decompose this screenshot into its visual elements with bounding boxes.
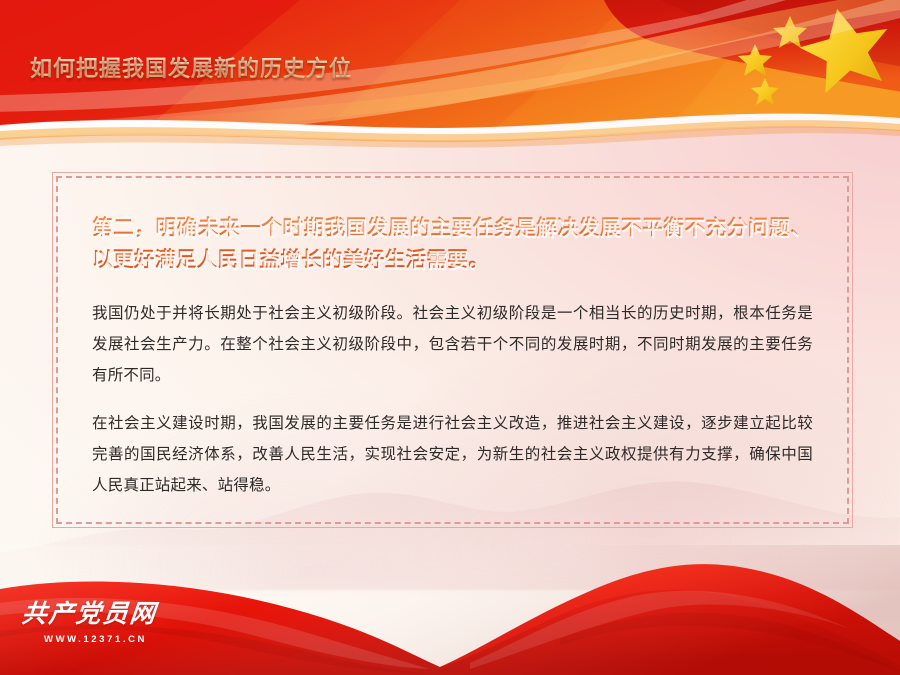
section-heading: 第二，明确未来一个时期我国发展的主要任务是解决发展不平衡不充分问题、以更好满足人…	[92, 212, 811, 276]
site-logo: 共产党员网 WWW.12371.CN	[22, 594, 157, 645]
body-paragraph-1: 我国仍处于并将长期处于社会主义初级阶段。社会主义初级阶段是一个相当长的历史时期，…	[92, 298, 813, 391]
page-title: 如何把握我国发展新的历史方位	[30, 51, 352, 83]
poster-page: 如何把握我国发展新的历史方位 第二，明确未来一个时期我国发展的主要任务是解决发展…	[0, 0, 900, 675]
content-frame: 第二，明确未来一个时期我国发展的主要任务是解决发展不平衡不充分问题、以更好满足人…	[52, 172, 853, 528]
header-banner: 如何把握我国发展新的历史方位	[0, 0, 900, 150]
body-paragraph-2: 在社会主义建设时期，我国发展的主要任务是进行社会主义改造，推进社会主义建设，逐步…	[92, 408, 813, 501]
content-frame-inner: 第二，明确未来一个时期我国发展的主要任务是解决发展不平衡不充分问题、以更好满足人…	[56, 176, 849, 524]
logo-wordmark: 共产党员网	[20, 594, 159, 630]
logo-url: WWW.12371.CN	[44, 634, 157, 645]
